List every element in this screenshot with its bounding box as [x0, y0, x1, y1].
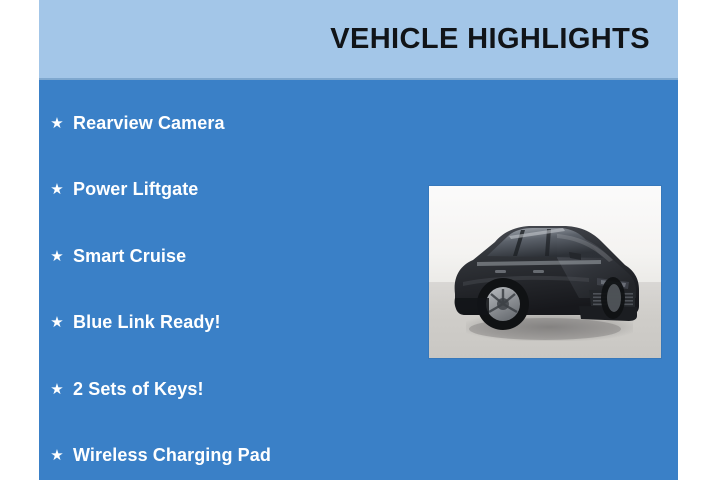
- star-icon: ★: [47, 382, 67, 397]
- highlight-label: Blue Link Ready!: [73, 312, 221, 333]
- header-band: VEHICLE HIGHLIGHTS: [39, 0, 678, 80]
- suv-illustration: [429, 186, 661, 358]
- list-item: ★ Wireless Charging Pad: [47, 423, 417, 489]
- highlight-label: 2 Sets of Keys!: [73, 379, 204, 400]
- highlight-label: Smart Cruise: [73, 246, 186, 267]
- list-item: ★ Rearview Camera: [47, 90, 417, 157]
- star-icon: ★: [47, 448, 67, 463]
- star-icon: ★: [47, 249, 67, 264]
- rear-wheel: [601, 277, 625, 319]
- highlights-panel: ★ Rearview Camera ★ Power Liftgate ★ Sma…: [39, 80, 678, 480]
- vehicle-highlights-slide: VEHICLE HIGHLIGHTS ★ Rearview Camera ★ P…: [0, 0, 720, 480]
- list-item: ★ 2 Sets of Keys!: [47, 356, 417, 423]
- list-item: ★ Blue Link Ready!: [47, 290, 417, 357]
- vehicle-photo: [429, 186, 661, 358]
- star-icon: ★: [47, 116, 67, 131]
- highlights-list: ★ Rearview Camera ★ Power Liftgate ★ Sma…: [47, 90, 417, 489]
- star-icon: ★: [47, 182, 67, 197]
- star-icon: ★: [47, 315, 67, 330]
- highlight-label: Rearview Camera: [73, 113, 225, 134]
- page-title: VEHICLE HIGHLIGHTS: [330, 23, 678, 56]
- list-item: ★ Power Liftgate: [47, 157, 417, 224]
- highlight-label: Wireless Charging Pad: [73, 445, 271, 466]
- list-item: ★ Smart Cruise: [47, 223, 417, 290]
- highlight-label: Power Liftgate: [73, 179, 198, 200]
